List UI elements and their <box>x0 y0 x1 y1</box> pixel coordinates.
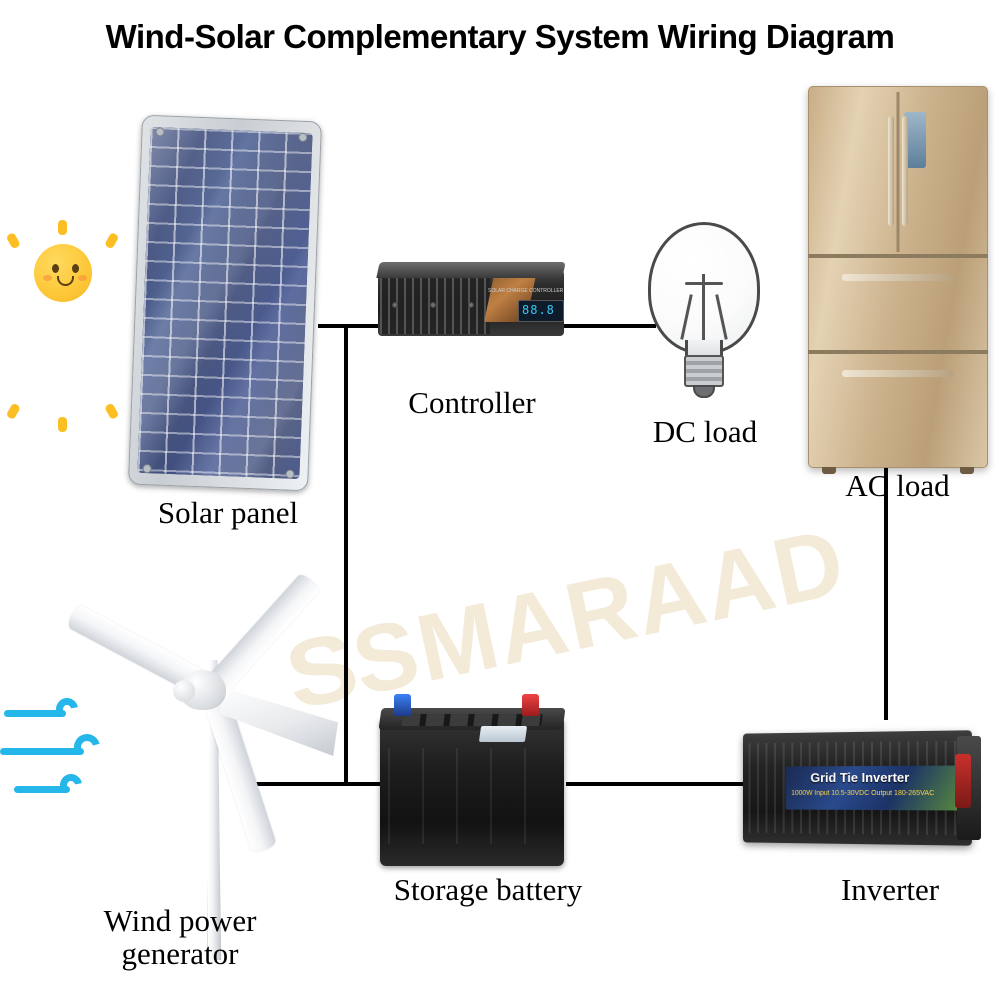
sun-icon <box>8 218 116 328</box>
wire-battery-to-inverter <box>566 782 756 786</box>
page-title: Wind-Solar Complementary System Wiring D… <box>0 18 1000 56</box>
storage-battery <box>372 690 572 870</box>
wind-power-generator <box>40 540 360 960</box>
controller-display: 88.8 <box>518 300 564 322</box>
label-controller: Controller <box>362 385 582 421</box>
controller-display-value: 88.8 <box>522 304 555 316</box>
charge-controller: SOLAR CHARGE CONTROLLER 88.8 <box>370 258 570 348</box>
wire-inverter-to-acload <box>884 466 888 720</box>
label-ac-load: AC load <box>800 468 995 504</box>
label-wind-generator-line2: generator <box>55 938 305 971</box>
label-wind-generator-line1: Wind power <box>55 905 305 938</box>
label-solar-panel: Solar panel <box>128 495 328 531</box>
solar-panel <box>128 115 322 492</box>
inverter-brand-text: Grid Tie Inverter <box>810 770 909 785</box>
label-inverter: Inverter <box>790 872 990 908</box>
dc-load-bulb <box>640 222 770 402</box>
inverter-front-panel: Grid Tie Inverter 1000W Input 10.5-30VDC… <box>786 765 965 810</box>
grid-tie-inverter: Grid Tie Inverter 1000W Input 10.5-30VDC… <box>735 710 985 860</box>
watermark-text: SMARAAD <box>344 508 855 716</box>
controller-mini-text: SOLAR CHARGE CONTROLLER <box>488 288 563 294</box>
battery-positive-terminal <box>522 694 539 716</box>
inverter-spec-text: 1000W Input 10.5-30VDC Output 180-265VAC <box>791 790 934 797</box>
diagram-canvas: Wind-Solar Complementary System Wiring D… <box>0 0 1000 1000</box>
battery-negative-terminal <box>394 694 411 716</box>
ac-load-refrigerator <box>808 86 988 468</box>
label-wind-generator: Wind power generator <box>55 905 305 971</box>
label-dc-load: DC load <box>605 414 805 450</box>
label-storage-battery: Storage battery <box>348 872 628 908</box>
